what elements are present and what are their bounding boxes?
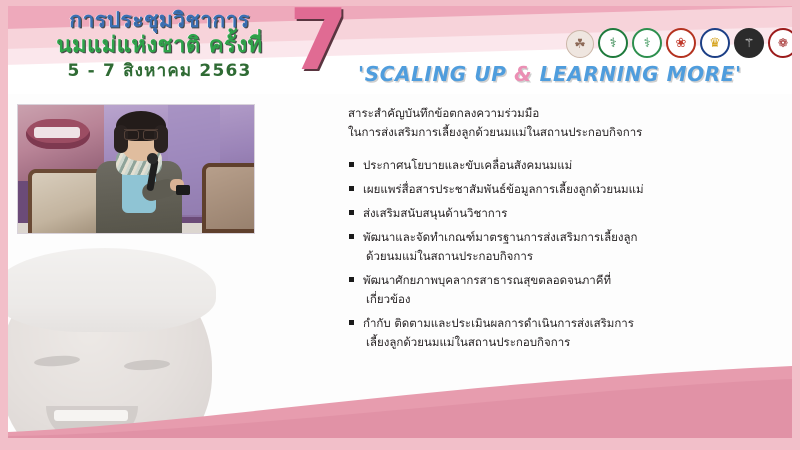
speaker-video-frame[interactable] <box>17 104 255 234</box>
logo-medical-council-green-icon: ⚕ <box>598 28 628 58</box>
conference-title: การประชุมวิชาการ นมแม่แห่งชาติ ครั้งที่ … <box>22 8 297 82</box>
logo-royal-crest-gold-icon: ♛ <box>700 28 730 58</box>
photo-clicker-device <box>176 185 190 195</box>
logo-ministry-black-icon: ⚚ <box>734 28 764 58</box>
logo-university-crest-red-icon: ❁ <box>768 28 792 58</box>
photo-backdrop-teeth <box>34 127 80 138</box>
content-heading-line1: สาระสำคัญบันทึกข้อตกลงความร่วมมือ <box>348 104 768 123</box>
microphone-head-icon <box>147 153 158 164</box>
logo-nursing-council-green-icon: ⚕ <box>632 28 662 58</box>
slide-body: สาระสำคัญบันทึกข้อตกลงความร่วมมือ ในการส… <box>8 94 792 438</box>
watermark-teeth <box>54 410 128 421</box>
baby-face-watermark <box>8 244 254 438</box>
bullet-text-line1: ส่งเสริมสนับสนุนด้านวิชาการ <box>363 206 507 220</box>
edition-number: 7 <box>289 6 348 83</box>
list-item: พัฒนาศักยภาพบุคลากรสาธารณสุขตลอดจนภาคีที… <box>348 271 768 309</box>
list-item: ส่งเสริมสนับสนุนด้านวิชาการ <box>348 204 768 223</box>
conference-slogan: 'SCALING UP & LEARNING MORE' <box>358 62 742 86</box>
slogan-prefix: 'SCALING UP <box>358 62 514 86</box>
logo-thai-breastfeeding-foundation-icon: ☘ <box>566 30 594 58</box>
content-heading-line2: ในการส่งเสริมการเลี้ยงลูกด้วยนมแม่ในสถาน… <box>348 123 768 142</box>
photo-chair-right <box>202 163 255 233</box>
bullet-text-line2: เกี่ยวข้อง <box>363 290 768 309</box>
photo-speaker-glasses <box>124 129 158 138</box>
bullet-text-line1: กำกับ ติดตามและประเมินผลการดำเนินการส่งเ… <box>363 316 634 330</box>
bullet-text-line2: เลี้ยงลูกด้วยนมแม่ในสถานประกอบกิจการ <box>363 333 768 352</box>
bullet-square-icon <box>349 210 354 215</box>
conference-title-line1: การประชุมวิชาการ <box>22 8 297 33</box>
logo-royal-emblem-red-icon: ❀ <box>666 28 696 58</box>
slide-page: การประชุมวิชาการ นมแม่แห่งชาติ ครั้งที่ … <box>8 6 792 438</box>
bullet-square-icon <box>349 320 354 325</box>
content-bullet-list: ประกาศนโยบายและขับเคลื่อนสังคมนมแม่ เผยแ… <box>348 156 768 352</box>
watermark-cap <box>8 248 216 332</box>
list-item: กำกับ ติดตามและประเมินผลการดำเนินการส่งเ… <box>348 314 768 352</box>
list-item: ประกาศนโยบายและขับเคลื่อนสังคมนมแม่ <box>348 156 768 175</box>
bullet-square-icon <box>349 186 354 191</box>
bullet-square-icon <box>349 234 354 239</box>
presentation-slide: การประชุมวิชาการ นมแม่แห่งชาติ ครั้งที่ … <box>0 0 800 450</box>
slide-header: การประชุมวิชาการ นมแม่แห่งชาติ ครั้งที่ … <box>8 6 792 94</box>
bullet-square-icon <box>349 277 354 282</box>
bullet-text-line1: พัฒนาศักยภาพบุคลากรสาธารณสุขตลอดจนภาคีที… <box>363 273 611 287</box>
bullet-text-line2: ด้วยนมแม่ในสถานประกอบกิจการ <box>363 247 768 266</box>
content-text-column: สาระสำคัญบันทึกข้อตกลงความร่วมมือ ในการส… <box>348 104 768 357</box>
bullet-text-line1: เผยแพร่สื่อสารประชาสัมพันธ์ข้อมูลการเลี้… <box>363 182 644 196</box>
bullet-text-line1: พัฒนาและจัดทำเกณฑ์มาตรฐานการส่งเสริมการเ… <box>363 230 638 244</box>
conference-title-line2: นมแม่แห่งชาติ ครั้งที่ <box>22 33 297 59</box>
bullet-square-icon <box>349 162 354 167</box>
slogan-suffix: LEARNING MORE' <box>532 62 742 86</box>
bullet-text-line1: ประกาศนโยบายและขับเคลื่อนสังคมนมแม่ <box>363 158 572 172</box>
sponsor-logos: ☘ ⚕ ⚕ ❀ ♛ ⚚ ❁ สสส สำนักงานกองทุนสนับสนุน… <box>566 28 792 58</box>
list-item: พัฒนาและจัดทำเกณฑ์มาตรฐานการส่งเสริมการเ… <box>348 228 768 266</box>
list-item: เผยแพร่สื่อสารประชาสัมพันธ์ข้อมูลการเลี้… <box>348 180 768 199</box>
content-heading: สาระสำคัญบันทึกข้อตกลงความร่วมมือ ในการส… <box>348 104 768 142</box>
slogan-ampersand: & <box>514 62 532 86</box>
conference-date: 5 - 7 สิงหาคม 2563 <box>22 60 297 82</box>
